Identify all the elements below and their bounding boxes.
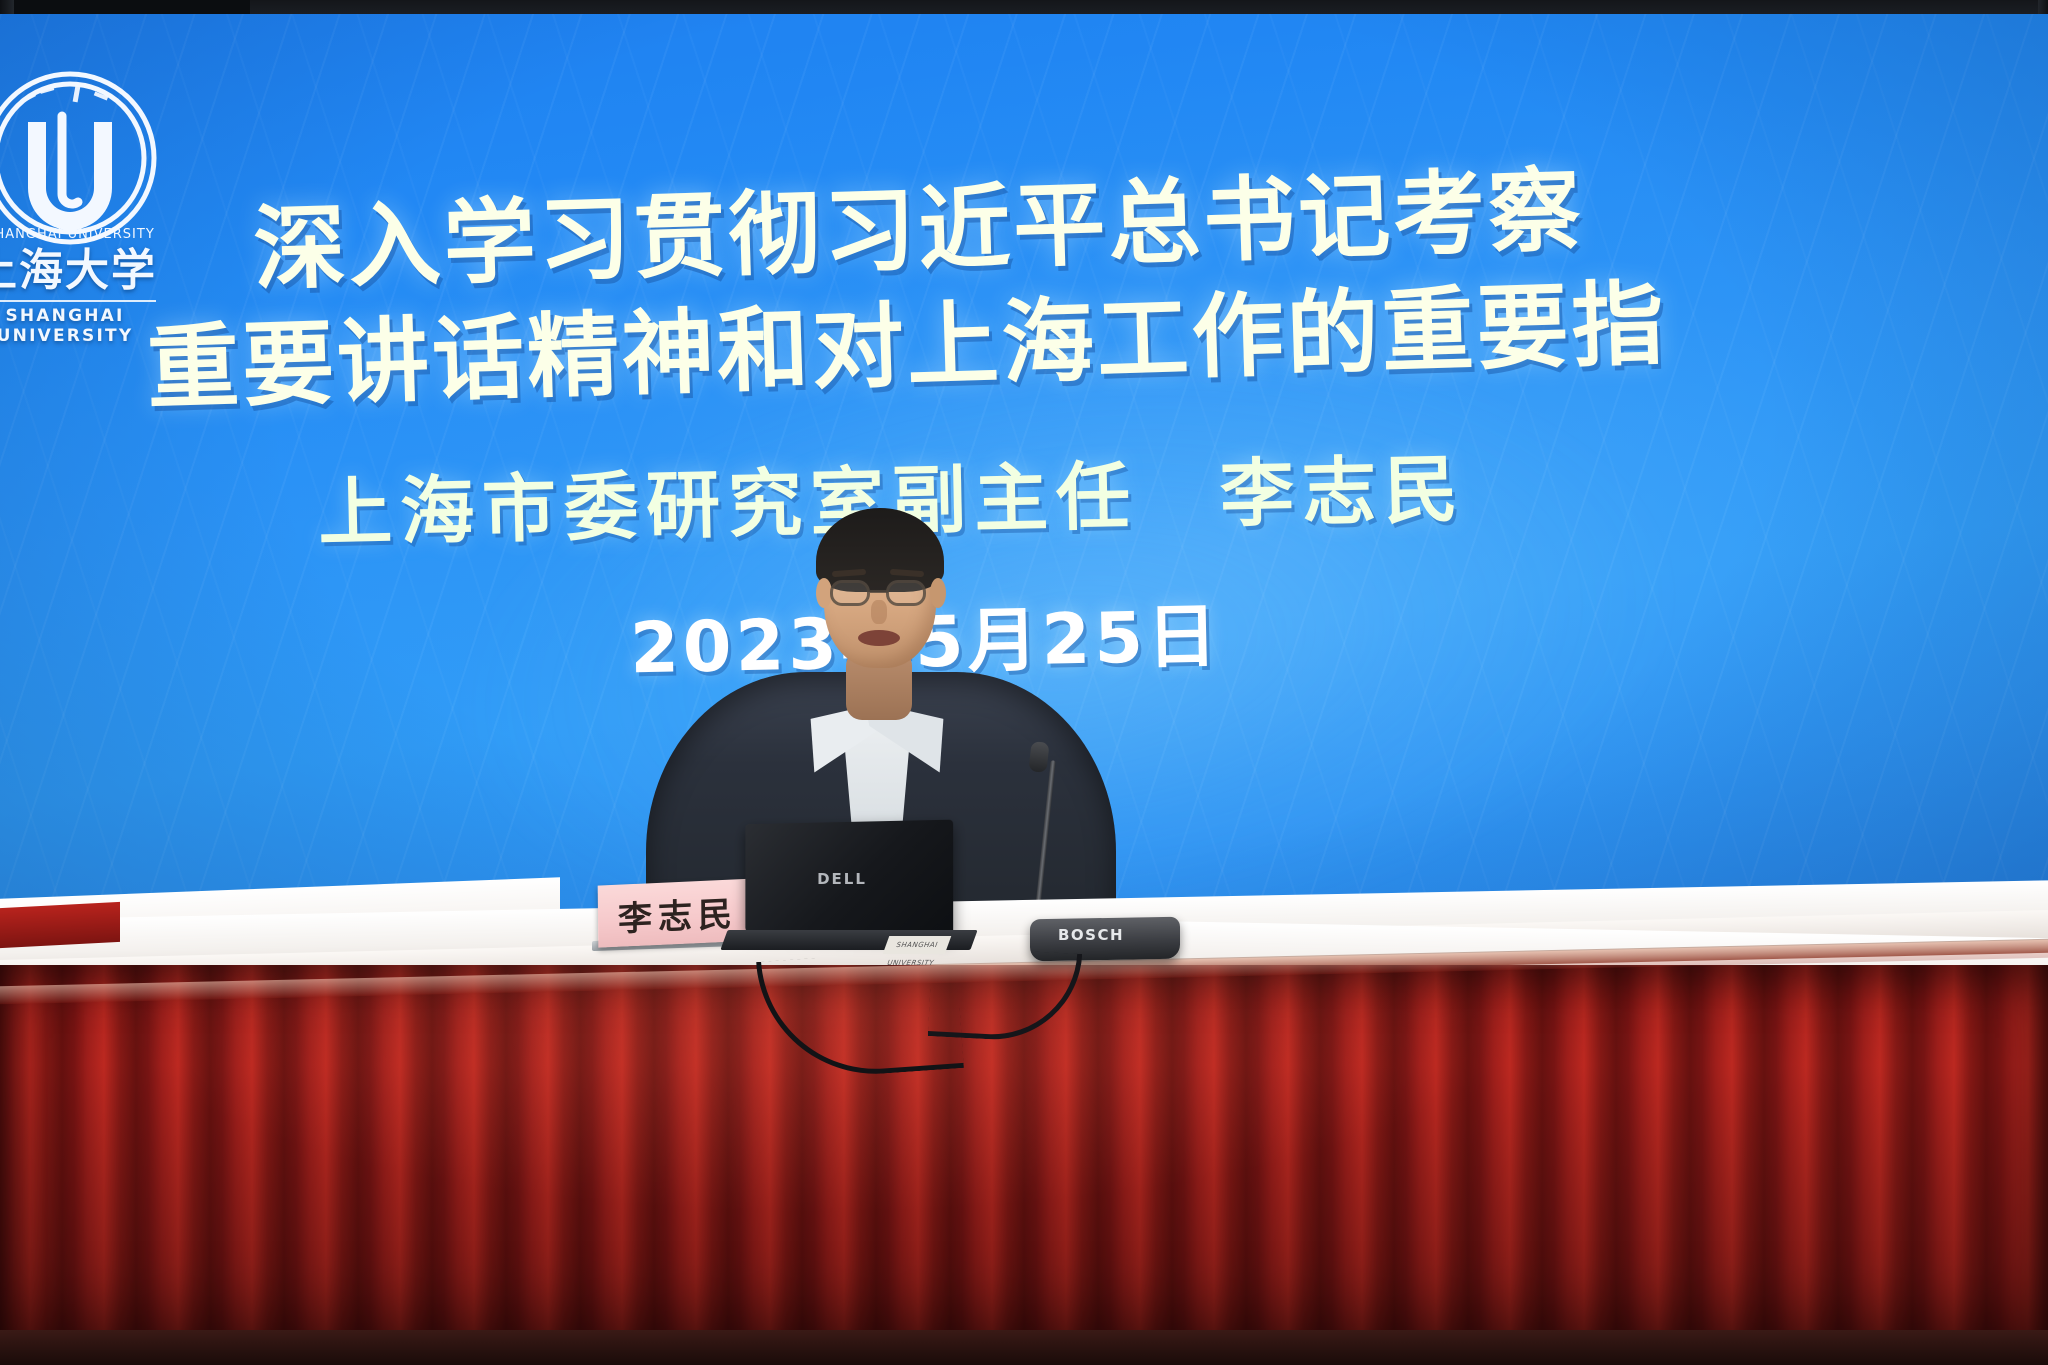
shanghai-university-seal-icon: SHANGHAI UNIVERSITY (0, 70, 158, 246)
presenter-mouth (858, 630, 900, 646)
wordmark-chinese: 上海大学 (0, 246, 170, 296)
nameplate-text: 李志民 (618, 886, 739, 940)
svg-text:SHANGHAI UNIVERSITY: SHANGHAI UNIVERSITY (0, 227, 155, 242)
university-logo-block: SHANGHAI UNIVERSITY 上海大学 SHANGHAI UNIVER… (0, 70, 202, 280)
presenter-hair (816, 508, 944, 592)
ceiling-corner (0, 0, 250, 14)
wordmark-divider (0, 300, 156, 302)
presenter-ear-right (930, 578, 946, 608)
dell-logo: DELL (814, 870, 870, 892)
presenter-glasses-right-lens (886, 580, 926, 606)
stage-scene: SHANGHAI UNIVERSITY 上海大学 SHANGHAI UNIVER… (0, 0, 2048, 1365)
presenter-glasses-left-lens (830, 580, 870, 606)
bosch-brand-label: BOSCH (1058, 926, 1158, 944)
stage-floor (0, 1330, 2048, 1365)
stage-carpet-strip (0, 902, 120, 948)
dell-laptop[interactable]: DELL SHANGHAI UNIVERSITY (740, 822, 980, 962)
presenter-nose (871, 600, 887, 624)
university-wordmark: 上海大学 SHANGHAI UNIVERSITY (0, 246, 170, 346)
presenter-glasses-bridge (870, 590, 888, 593)
